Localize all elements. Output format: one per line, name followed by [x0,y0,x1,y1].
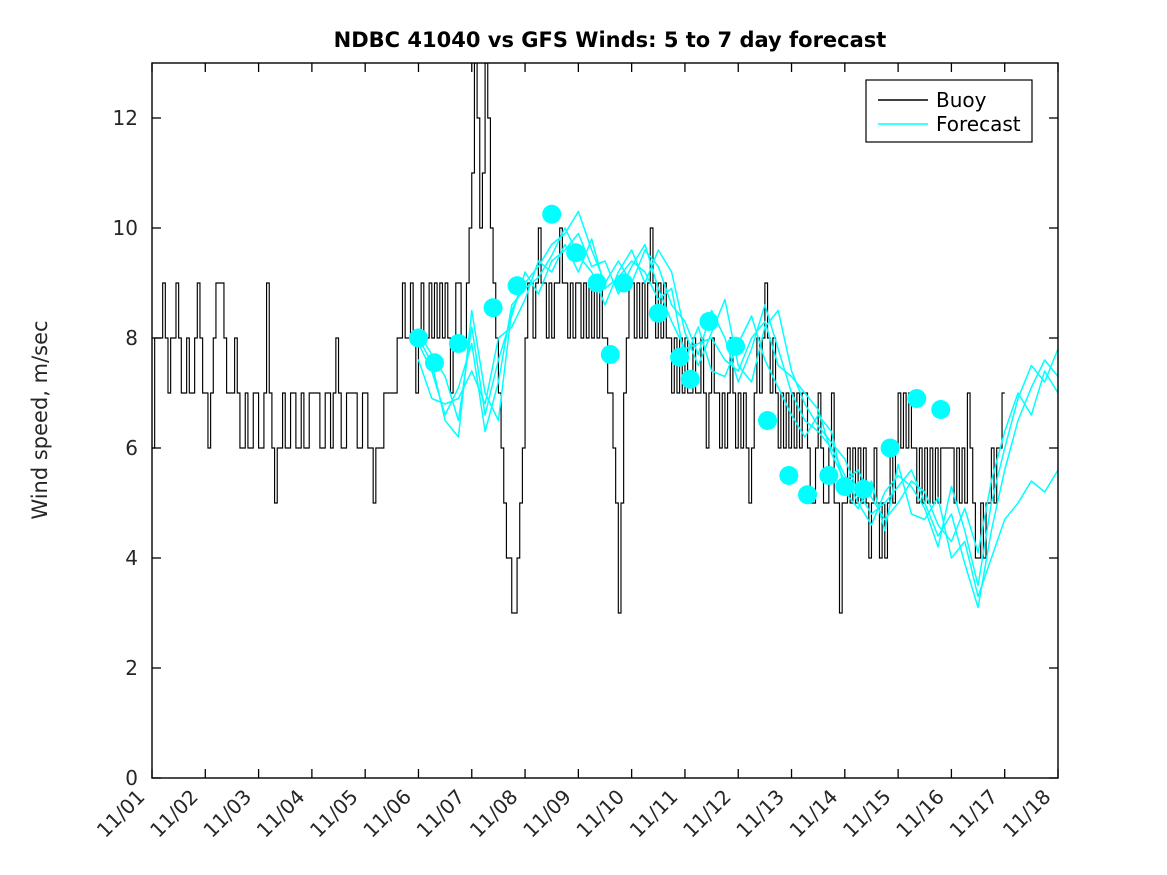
forecast-marker [542,205,561,224]
forecast-marker [649,304,668,323]
page-title: NDBC 41040 vs GFS Winds: 5 to 7 day fore… [334,28,887,52]
legend-label-buoy: Buoy [936,88,987,112]
forecast-marker [449,334,468,353]
figure-canvas: NDBC 41040 vs GFS Winds: 5 to 7 day fore… [0,0,1167,875]
forecast-marker [699,312,718,331]
y-tick-label: 12 [113,106,138,130]
forecast-marker [819,466,838,485]
forecast-marker [779,466,798,485]
forecast-marker [835,477,854,496]
y-tick-label: 2 [125,656,138,680]
forecast-marker [409,329,428,348]
forecast-marker [881,439,900,458]
forecast-marker [907,389,926,408]
forecast-marker [425,353,444,372]
forecast-marker [854,480,873,499]
forecast-marker [726,337,745,356]
forecast-marker [758,411,777,430]
forecast-marker [670,348,689,367]
forecast-marker [508,276,527,295]
forecast-marker [601,345,620,364]
y-tick-label: 4 [125,546,138,570]
forecast-marker [798,485,817,504]
legend-label-forecast: Forecast [936,112,1021,136]
forecast-marker [566,243,585,262]
forecast-marker [931,400,950,419]
y-tick-label: 10 [113,216,138,240]
y-tick-label: 8 [125,326,138,350]
forecast-marker [588,274,607,293]
y-tick-label: 6 [125,436,138,460]
forecast-marker [614,274,633,293]
wind-speed-chart: NDBC 41040 vs GFS Winds: 5 to 7 day fore… [0,0,1167,875]
forecast-marker [681,370,700,389]
legend[interactable]: Buoy Forecast [866,80,1032,142]
forecast-marker [484,298,503,317]
y-axis-title: Wind speed, m/sec [28,320,52,519]
